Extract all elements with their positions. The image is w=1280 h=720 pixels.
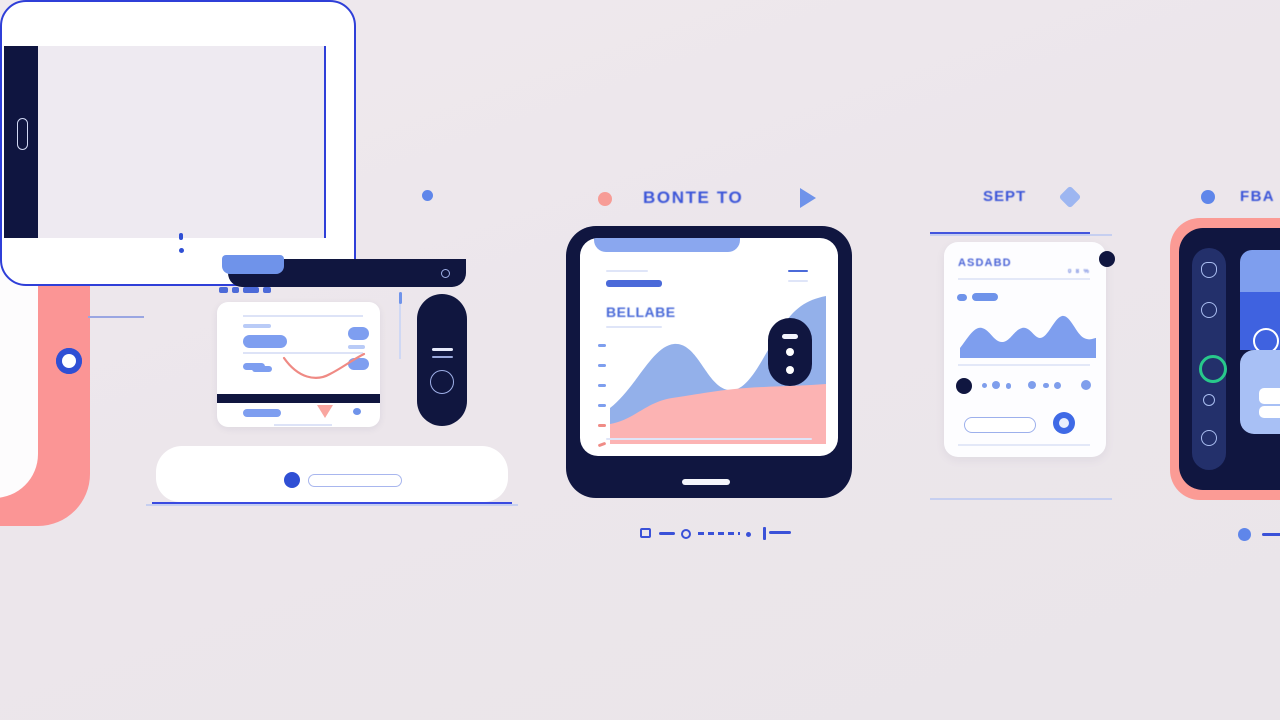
header-label-sept: SEPT [983,188,1026,205]
row-tick [1054,382,1061,389]
dash-marker-icon [659,532,675,535]
chart-tablet-panel: BELLABE [566,226,852,498]
card-divider [243,315,363,317]
options-pill[interactable] [417,294,467,426]
dot-icon[interactable] [1203,394,1215,406]
arrow-right-icon[interactable] [800,188,816,208]
card-rule-soft [930,234,1112,236]
status-dot [353,408,361,415]
dash-marker-icon [769,531,791,534]
row-badge [956,378,972,394]
row-tick [982,383,987,388]
card-baseline [930,498,1112,500]
card-divider [958,364,1090,366]
triangle-marker-icon [317,405,333,418]
circle-marker-icon [681,529,691,539]
status-badge [1099,251,1115,267]
sidebar-handle-icon [17,118,28,150]
content-card [1259,406,1280,418]
card-divider [274,424,332,426]
card-pill [243,324,271,328]
home-dot[interactable] [284,472,300,488]
mini-area-chart [944,308,1106,360]
submit-icon[interactable] [1053,412,1075,434]
card-pill [348,327,369,340]
row-tick [1043,383,1049,388]
marker-dot-icon [1201,190,1215,204]
vertical-divider [399,297,401,359]
menu-line-icon [432,348,453,351]
illustration-canvas: BELLABE ASDABD 0 8 % [0,0,1280,720]
dash-marker-icon [1262,533,1280,536]
refresh-icon[interactable] [1201,302,1217,318]
card-pill [243,335,287,348]
tablet-active-tab[interactable] [222,255,284,274]
header-label-fba: FBA [1240,188,1275,205]
card-divider-bar [217,394,380,403]
card-pill [243,409,281,417]
circle-icon[interactable] [1201,430,1217,446]
camera-dot-icon [179,233,183,240]
card-meta: 0 8 % [1068,269,1090,275]
filter-chip[interactable] [263,287,271,293]
card-divider [958,278,1090,280]
bookmark-icon[interactable] [1201,262,1217,278]
home-indicator[interactable] [308,474,402,487]
card-title: ASDABD [958,257,1012,269]
marker-dot-icon [1238,528,1251,541]
home-indicator[interactable] [682,479,730,485]
bar-marker-icon [763,527,766,540]
card-pill [252,366,272,372]
circle-icon [430,370,454,394]
series-blue [960,316,1096,358]
row-tick [1028,381,1036,389]
legend-dot [957,294,967,301]
search-input[interactable] [964,417,1036,433]
diamond-icon [1059,186,1082,209]
tablet-screen[interactable] [4,46,326,238]
menu-line-icon [432,356,453,358]
refresh-icon[interactable] [441,269,450,278]
square-marker-icon [640,528,651,538]
divider-handle [399,292,402,304]
row-tick [992,381,1000,389]
content-panel-top[interactable] [1240,250,1280,292]
card-divider [958,444,1090,446]
row-tick [1081,380,1091,390]
marker-dot-icon [598,192,612,206]
analytics-card-panel: ASDABD 0 8 % [930,232,1120,460]
header-label-bonte: BONTE TO [643,188,743,208]
tablet-baseline-soft [146,504,518,506]
sensor-dot-icon [179,248,184,253]
dot-marker-icon [746,532,751,537]
menu-dot-icon [786,348,794,356]
menu-dot-icon [786,366,794,374]
filter-chip[interactable] [243,287,259,293]
card-pill [348,345,365,349]
row-tick [1006,383,1011,389]
legend-pill [972,293,998,301]
dashed-line-marker-icon [698,532,740,535]
filter-chip[interactable] [219,287,228,293]
baseline [606,438,812,440]
crown-button[interactable] [56,348,82,374]
record-icon-active[interactable] [1199,355,1227,383]
content-card [1259,388,1280,404]
menu-line-icon [782,334,798,339]
watch-baseline [88,316,144,318]
trend-curve [282,352,366,380]
filter-chip[interactable] [232,287,239,293]
bottom-legend [640,524,800,542]
marker-dot-icon [422,190,433,201]
